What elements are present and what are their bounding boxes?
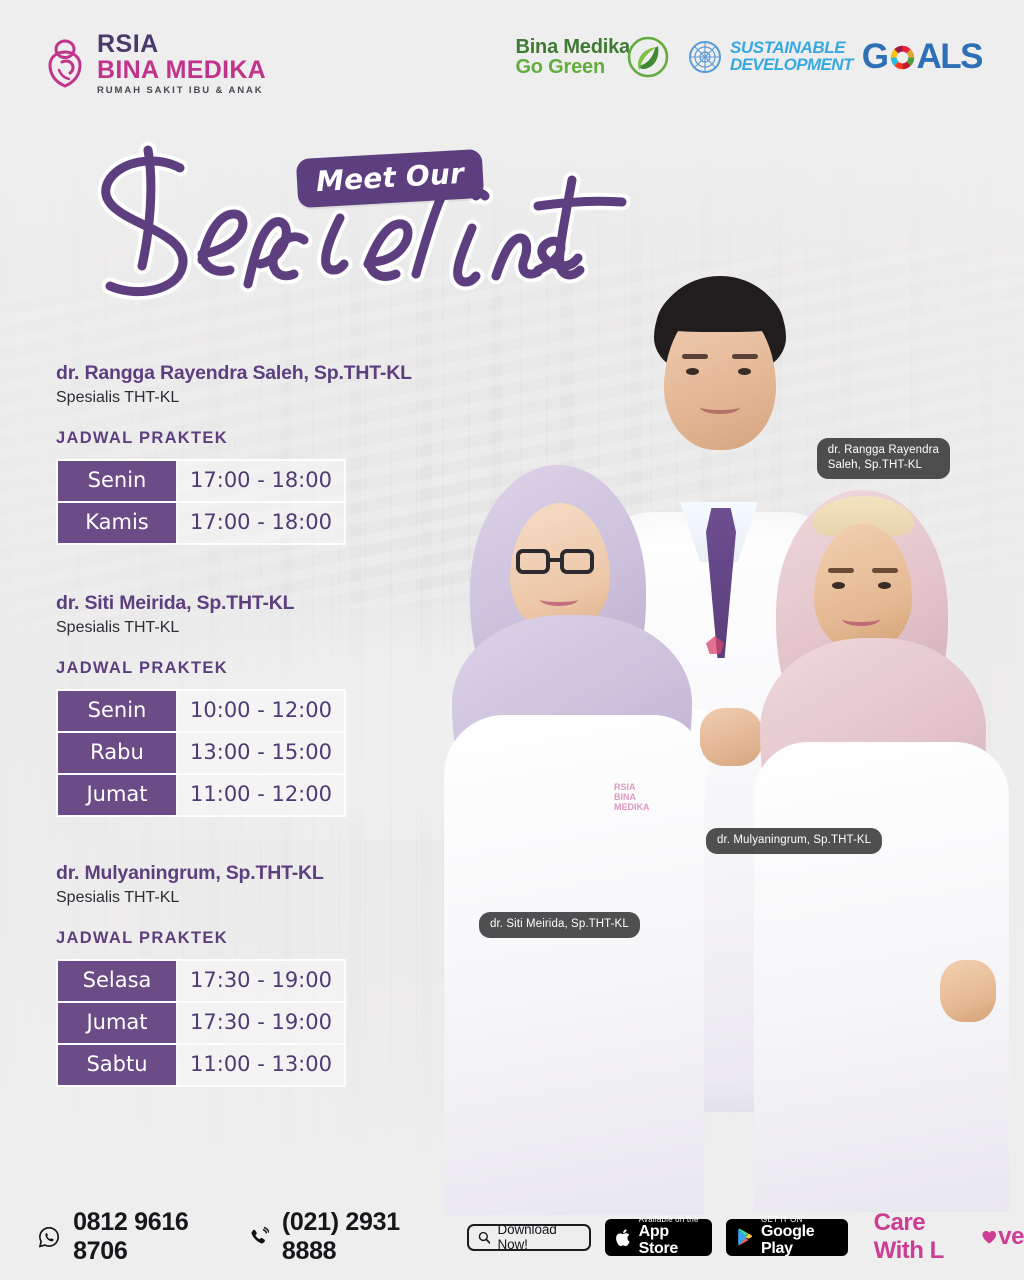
google-play-icon <box>737 1226 754 1248</box>
schedule-heading: JADWAL PRAKTEK <box>56 659 386 678</box>
tagline-text-b: ve <box>998 1223 1024 1251</box>
schedule-table: Senin 17:00 - 18:00 Kamis 17:00 - 18:00 <box>56 459 346 545</box>
app-store-label: App Store <box>639 1224 701 1258</box>
header-badges: Bina Medika Go Green SUSTAINABLE DEVELOP… <box>515 36 982 78</box>
schedule-time: 11:00 - 12:00 <box>178 775 344 815</box>
schedule-day: Jumat <box>58 775 178 815</box>
apple-icon <box>616 1226 632 1249</box>
doctor-block-3: dr. Mulyaningrum, Sp.THT-KL Spesialis TH… <box>56 862 386 1087</box>
schedule-day: Senin <box>58 461 178 501</box>
whatsapp-number: 0812 9616 8706 <box>73 1208 223 1266</box>
doctors-photo-group: RSIABINA MEDIKA dr. Rangga Rayendra Sale… <box>404 250 1024 1210</box>
sdg-line-2: DEVELOPMENT <box>730 57 853 74</box>
sdg-goals-word: G ALS <box>862 37 982 77</box>
schedule-time: 11:00 - 13:00 <box>178 1045 344 1085</box>
schedule-time: 17:00 - 18:00 <box>178 503 344 543</box>
schedule-table: Senin 10:00 - 12:00 Rabu 13:00 - 15:00 J… <box>56 689 346 817</box>
logo-tagline: RUMAH SAKIT IBU & ANAK <box>97 86 266 96</box>
phone-contact[interactable]: (021) 2931 8888 <box>247 1208 434 1266</box>
schedule-time: 13:00 - 15:00 <box>178 733 344 773</box>
sdg-color-wheel-icon <box>889 44 916 71</box>
schedule-heading: JADWAL PRAKTEK <box>56 929 386 948</box>
whatsapp-icon <box>38 1224 60 1250</box>
go-green-line-2: Go Green <box>515 57 630 77</box>
logo-line-1: RSIA <box>97 32 266 57</box>
schedule-time: 10:00 - 12:00 <box>178 691 344 731</box>
table-row: Sabtu 11:00 - 13:00 <box>58 1045 344 1085</box>
photo-tag-mulyaningrum: dr. Mulyaningrum, Sp.THT-KL <box>706 828 882 854</box>
schedule-day: Kamis <box>58 503 178 543</box>
download-now-label: Download Now! <box>497 1222 576 1252</box>
goals-letters-als: ALS <box>917 37 983 77</box>
tagline-text-a: Care With L <box>874 1209 980 1265</box>
schedule-time: 17:00 - 18:00 <box>178 461 344 501</box>
doctor-name: dr. Mulyaningrum, Sp.THT-KL <box>56 862 386 885</box>
sdg-badge: SUSTAINABLE DEVELOPMENT G ALS <box>687 37 982 77</box>
schedule-day: Senin <box>58 691 178 731</box>
table-row: Rabu 13:00 - 15:00 <box>58 733 344 775</box>
table-row: Jumat 11:00 - 12:00 <box>58 775 344 815</box>
leaf-icon <box>627 36 669 78</box>
schedule-table: Selasa 17:30 - 19:00 Jumat 17:30 - 19:00… <box>56 959 346 1087</box>
download-now-button[interactable]: Download Now! <box>467 1224 591 1251</box>
un-emblem-icon <box>687 39 723 75</box>
doctor-block-2: dr. Siti Meirida, Sp.THT-KL Spesialis TH… <box>56 592 386 817</box>
doctor-name: dr. Siti Meirida, Sp.THT-KL <box>56 592 386 615</box>
doctor-specialty: Spesialis THT-KL <box>56 619 386 637</box>
schedule-day: Sabtu <box>58 1045 178 1085</box>
whatsapp-contact[interactable]: 0812 9616 8706 <box>38 1208 223 1266</box>
meet-our-badge: Meet Our <box>296 149 485 208</box>
google-play-button[interactable]: GET IT ON Google Play <box>726 1219 848 1256</box>
schedule-day: Rabu <box>58 733 178 773</box>
brand-logo: RSIA BINA MEDIKA RUMAH SAKIT IBU & ANAK <box>42 32 266 96</box>
table-row: Senin 17:00 - 18:00 <box>58 461 344 503</box>
doctor-specialty: Spesialis THT-KL <box>56 889 386 907</box>
schedule-time: 17:30 - 19:00 <box>178 961 344 1001</box>
table-row: Selasa 17:30 - 19:00 <box>58 961 344 1003</box>
logo-line-2: BINA MEDIKA <box>97 58 266 83</box>
schedule-day: Selasa <box>58 961 178 1001</box>
schedule-time: 17:30 - 19:00 <box>178 1003 344 1043</box>
care-with-love-tagline: Care With L ve <box>874 1209 1024 1265</box>
schedule-heading: JADWAL PRAKTEK <box>56 429 386 448</box>
phone-ring-icon <box>247 1224 269 1250</box>
phone-number: (021) 2931 8888 <box>282 1208 434 1266</box>
photo-tag-rangga: dr. Rangga Rayendra Saleh, Sp.THT-KL <box>817 438 950 479</box>
doctor-name: dr. Rangga Rayendra Saleh, Sp.THT-KL <box>56 362 386 385</box>
table-row: Senin 10:00 - 12:00 <box>58 691 344 733</box>
mother-and-child-icon <box>42 37 88 91</box>
table-row: Kamis 17:00 - 18:00 <box>58 503 344 543</box>
google-play-label: Google Play <box>761 1224 837 1258</box>
go-green-line-1: Bina Medika <box>515 37 630 57</box>
doctor-block-1: dr. Rangga Rayendra Saleh, Sp.THT-KL Spe… <box>56 362 386 545</box>
doctor-photo-siti: RSIABINA MEDIKA <box>444 465 704 1210</box>
search-icon <box>478 1230 491 1245</box>
app-store-button[interactable]: Available on the App Store <box>605 1219 713 1256</box>
go-green-badge: Bina Medika Go Green <box>515 36 669 78</box>
heart-icon <box>981 1227 998 1247</box>
doctor-specialty: Spesialis THT-KL <box>56 389 386 407</box>
photo-tag-siti: dr. Siti Meirida, Sp.THT-KL <box>479 912 640 938</box>
schedule-day: Jumat <box>58 1003 178 1043</box>
footer-bar: 0812 9616 8706 (021) 2931 8888 Download … <box>0 1194 1024 1280</box>
table-row: Jumat 17:30 - 19:00 <box>58 1003 344 1045</box>
goals-letter-g: G <box>862 37 888 77</box>
